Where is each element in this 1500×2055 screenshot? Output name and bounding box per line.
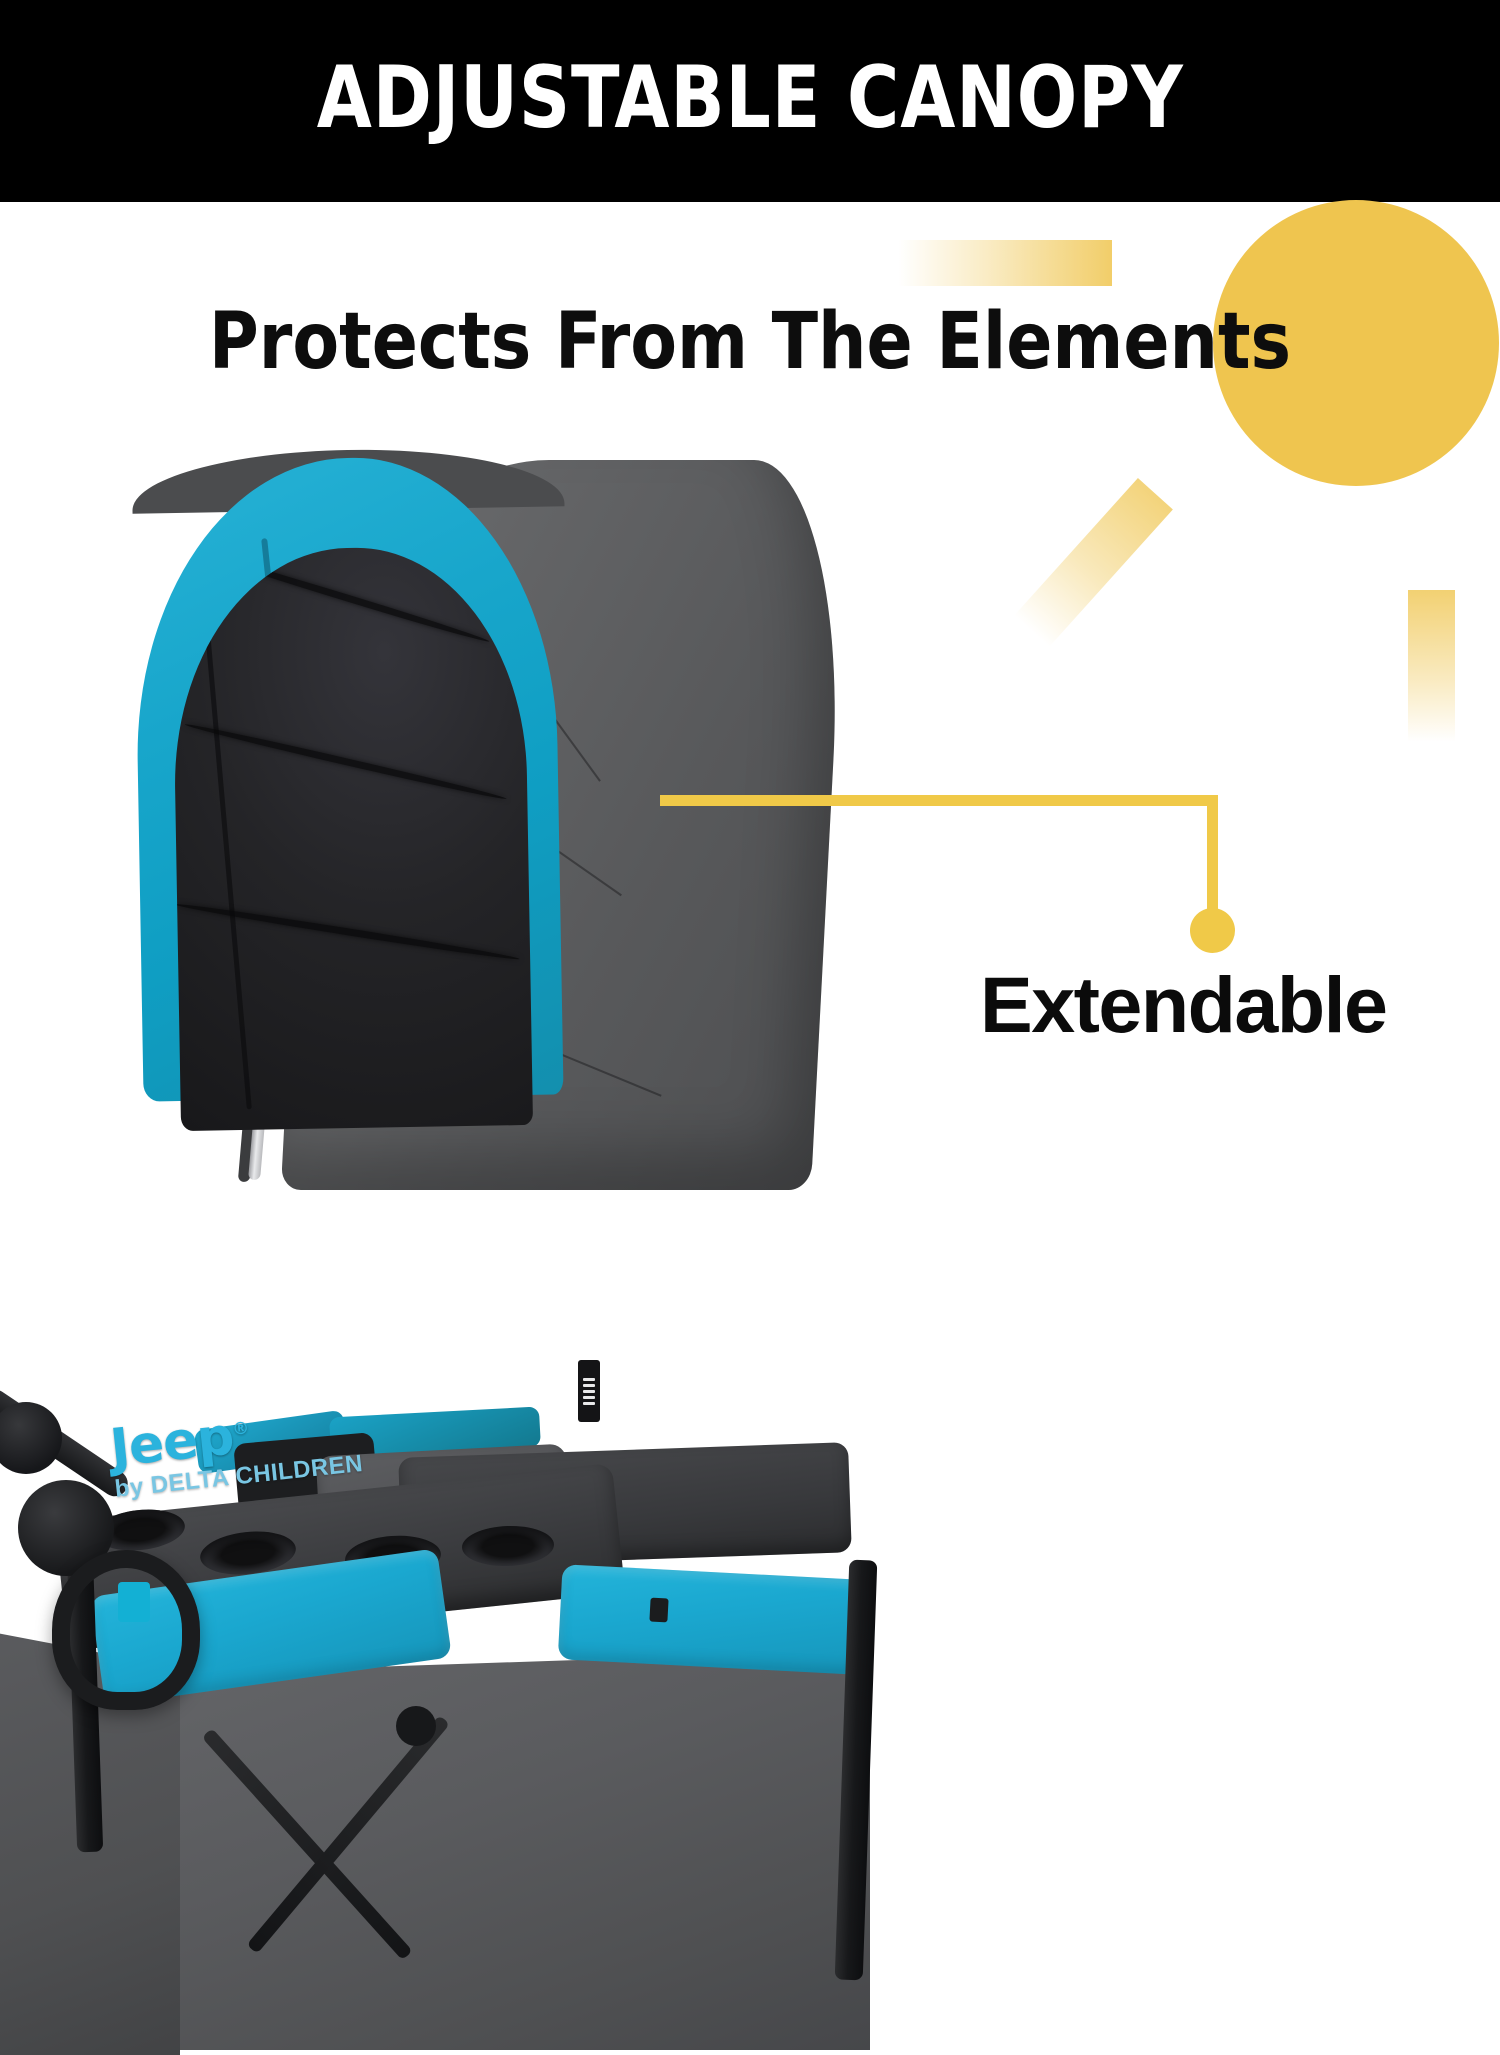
cup-holder-slot	[118, 1582, 150, 1622]
wagon-body	[0, 1120, 960, 1500]
cup-holder	[52, 1550, 200, 1710]
subtitle-headline: Protects From The Elements	[23, 300, 1478, 384]
handle-pivot-joint	[0, 1402, 62, 1474]
product-image	[0, 430, 960, 1500]
ray-bar-horizontal	[898, 240, 1112, 286]
ray-bar-diagonal	[1014, 478, 1173, 647]
canopy-rib	[184, 721, 507, 802]
canopy-rib	[202, 591, 252, 1109]
callout-label: Extendable	[980, 965, 1386, 1044]
canopy-rib	[173, 901, 520, 963]
callout-dot-icon	[1190, 908, 1235, 953]
rail-clip-icon	[649, 1598, 668, 1623]
body-fabric-panel	[150, 1650, 870, 2050]
header-bar: ADJUSTABLE CANOPY	[0, 0, 1500, 202]
canopy-interior	[171, 545, 533, 1131]
callout-line-horizontal	[660, 795, 1218, 806]
ray-bar-vertical	[1408, 590, 1455, 742]
frame-brace-hub	[396, 1706, 436, 1746]
page-title: ADJUSTABLE CANOPY	[317, 55, 1184, 147]
rail-pad-right	[558, 1564, 863, 1675]
